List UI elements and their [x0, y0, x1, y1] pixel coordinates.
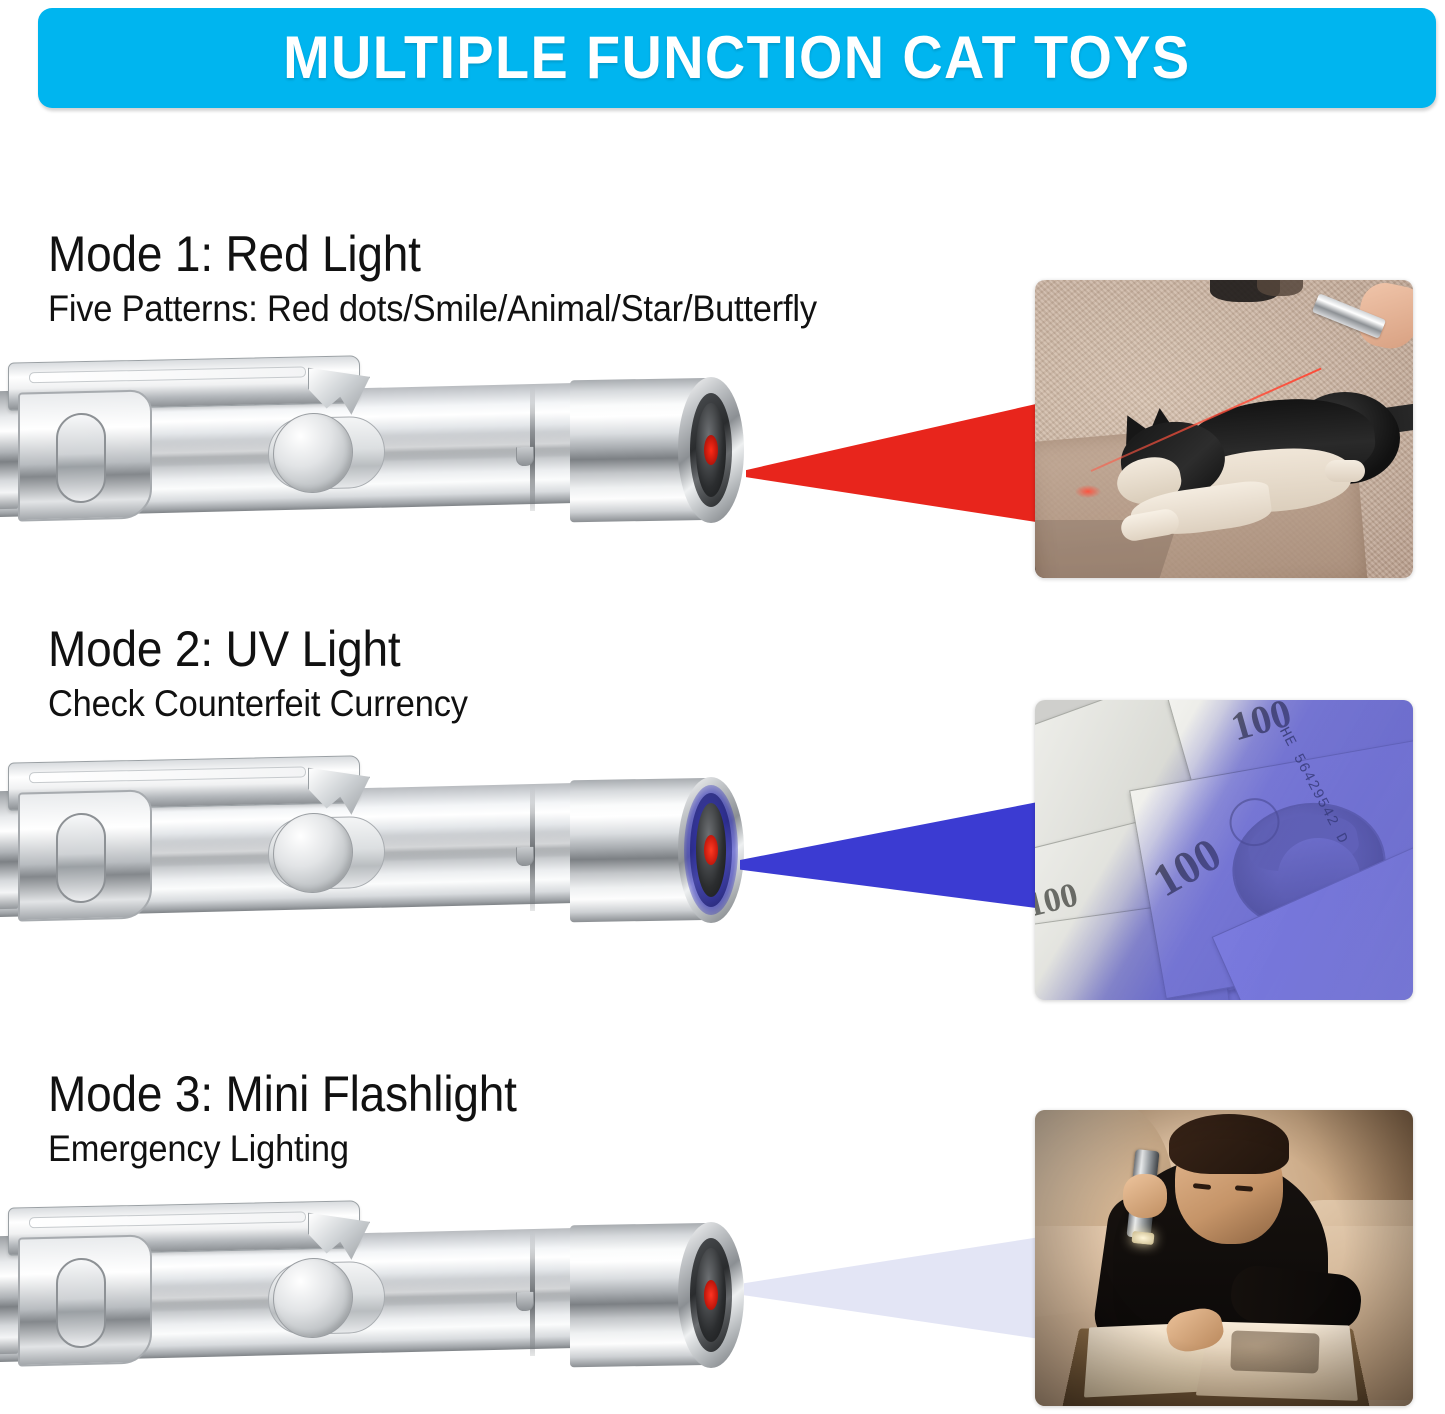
mode-2-title: Mode 2: UV Light	[48, 620, 400, 678]
book-illustration	[1230, 1330, 1319, 1373]
head-notch	[516, 1292, 534, 1311]
lens-emitter-dot	[704, 435, 718, 465]
cat-hind-paw	[1325, 460, 1365, 482]
mode-3-subtitle: Emergency Lighting	[48, 1128, 349, 1170]
pocket-clip-loop	[56, 812, 106, 903]
flashlight-light-tip	[1131, 1231, 1154, 1245]
denomination-label: 100	[1144, 827, 1230, 907]
head-notch	[516, 847, 534, 866]
background-blur-object-2	[1257, 280, 1303, 296]
mode-3-title: Mode 3: Mini Flashlight	[48, 1065, 517, 1123]
boy-hair	[1169, 1114, 1289, 1174]
lens	[696, 803, 726, 897]
boy-hand-holding-flashlight	[1123, 1174, 1167, 1218]
mode-2-subtitle: Check Counterfeit Currency	[48, 683, 468, 725]
flashlight-illustration-2	[0, 755, 768, 945]
boy-reading-with-flashlight-photo	[1035, 1110, 1413, 1406]
lens	[696, 1248, 726, 1342]
uv-money-check-photo: 100 HE 56429542 D HE 5642 UNITED STATES …	[1035, 700, 1413, 1000]
lens	[696, 403, 726, 497]
page-title: MULTIPLE FUNCTION CAT TOYS	[283, 28, 1190, 88]
mode-1-subtitle: Five Patterns: Red dots/Smile/Animal/Sta…	[48, 288, 817, 330]
flashlight-illustration-1	[0, 355, 768, 545]
head-notch	[516, 447, 534, 466]
mode-1-title: Mode 1: Red Light	[48, 225, 421, 283]
cat-chasing-laser-photo	[1035, 280, 1413, 578]
page-header-banner: MULTIPLE FUNCTION CAT TOYS	[38, 8, 1436, 108]
laser-dot	[1075, 485, 1101, 498]
lens-emitter-dot	[704, 1280, 718, 1310]
flashlight-illustration-3	[0, 1200, 768, 1390]
lens-emitter-dot	[704, 835, 718, 865]
pocket-clip-loop	[56, 412, 106, 503]
pocket-clip-loop	[56, 1257, 106, 1348]
